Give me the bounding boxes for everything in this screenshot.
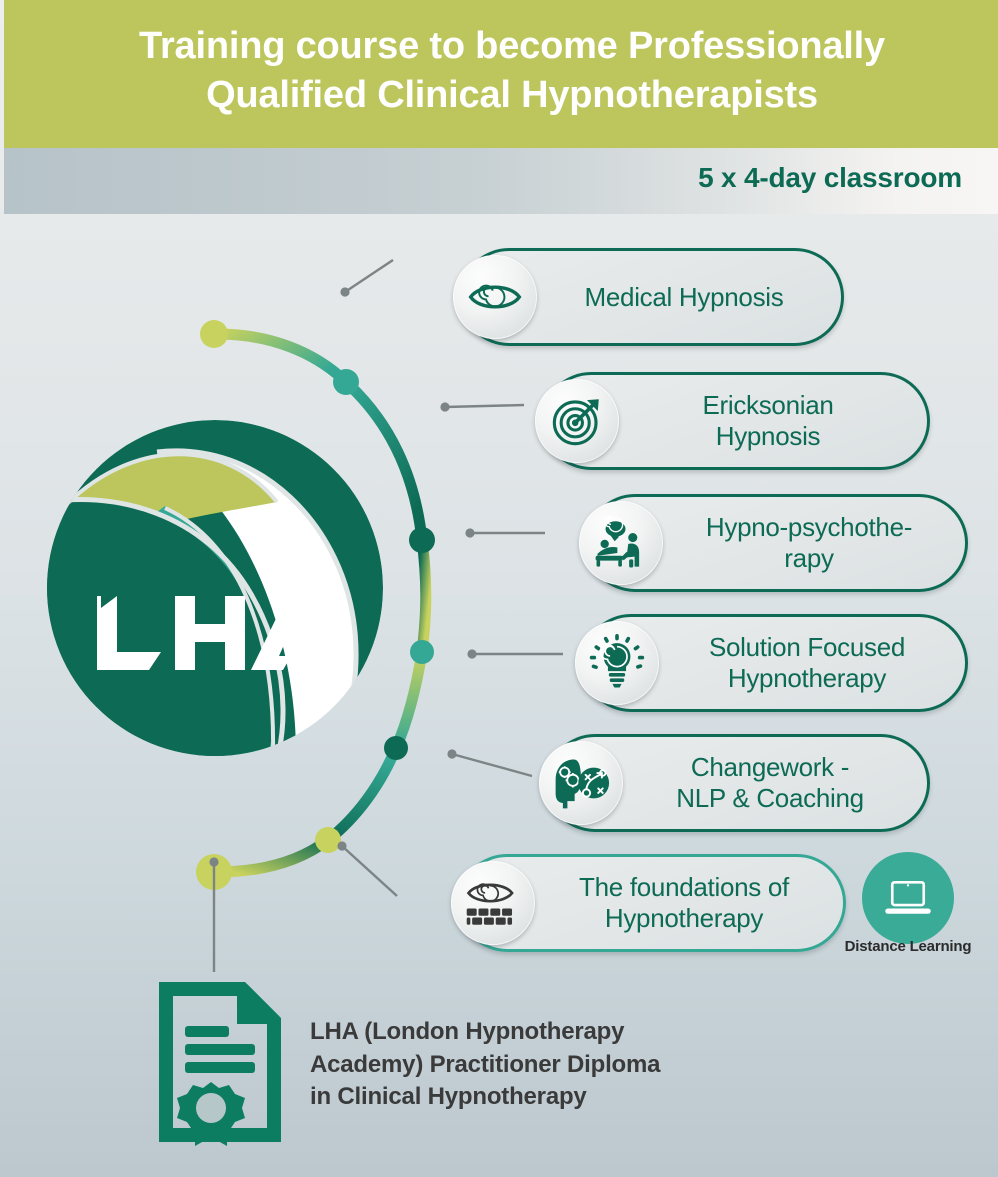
page-title-line1: Training course to become Professionally xyxy=(52,22,972,71)
page-title-line2: Qualified Clinical Hypnotherapists xyxy=(52,71,972,120)
subheader-band: 5 x 4-day classroom xyxy=(4,148,998,214)
module-pill-foundations-hypnotherapy[interactable]: The foundations of Hypnotherapy xyxy=(458,854,846,952)
module-pill-solution-focused-hypnotherapy[interactable]: Solution Focused Hypnotherapy xyxy=(582,614,968,712)
diploma-text: LHA (London Hypnotherapy Academy) Practi… xyxy=(310,1016,780,1114)
hypnotic-eye-icon xyxy=(453,255,537,339)
header-band: Training course to become Professionally… xyxy=(4,0,998,148)
module-pill-ericksonian-hypnosis[interactable]: Ericksonian Hypnosis xyxy=(542,372,930,470)
module-label: Hypno-psychothe- rapy xyxy=(663,512,965,573)
distance-learning-label: Distance Learning xyxy=(818,938,998,955)
certificate-ribbon-icon xyxy=(155,978,295,1146)
module-pill-changework-nlp-coaching[interactable]: Changework - NLP & Coaching xyxy=(546,734,930,832)
module-label: Changework - NLP & Coaching xyxy=(623,752,927,813)
distance-learning-badge[interactable] xyxy=(862,852,954,944)
page-title: Training course to become Professionally… xyxy=(52,22,972,121)
module-label: Ericksonian Hypnosis xyxy=(619,390,927,451)
classroom-format-label: 5 x 4-day classroom xyxy=(698,162,962,194)
module-label: Medical Hypnosis xyxy=(537,282,841,313)
module-pill-medical-hypnosis[interactable]: Medical Hypnosis xyxy=(460,248,844,346)
target-arrow-icon xyxy=(535,379,619,463)
infographic-root: Training course to become Professionally… xyxy=(0,0,998,1177)
module-label: The foundations of Hypnotherapy xyxy=(535,872,843,933)
lightbulb-spiral-icon xyxy=(575,621,659,705)
therapy-couch-icon xyxy=(579,501,663,585)
laptop-icon xyxy=(862,852,954,944)
module-pill-hypno-psychotherapy[interactable]: Hypno-psychothe- rapy xyxy=(586,494,968,592)
eye-brickwall-icon xyxy=(451,861,535,945)
head-gears-strategy-icon xyxy=(539,741,623,825)
module-label: Solution Focused Hypnotherapy xyxy=(659,632,965,693)
